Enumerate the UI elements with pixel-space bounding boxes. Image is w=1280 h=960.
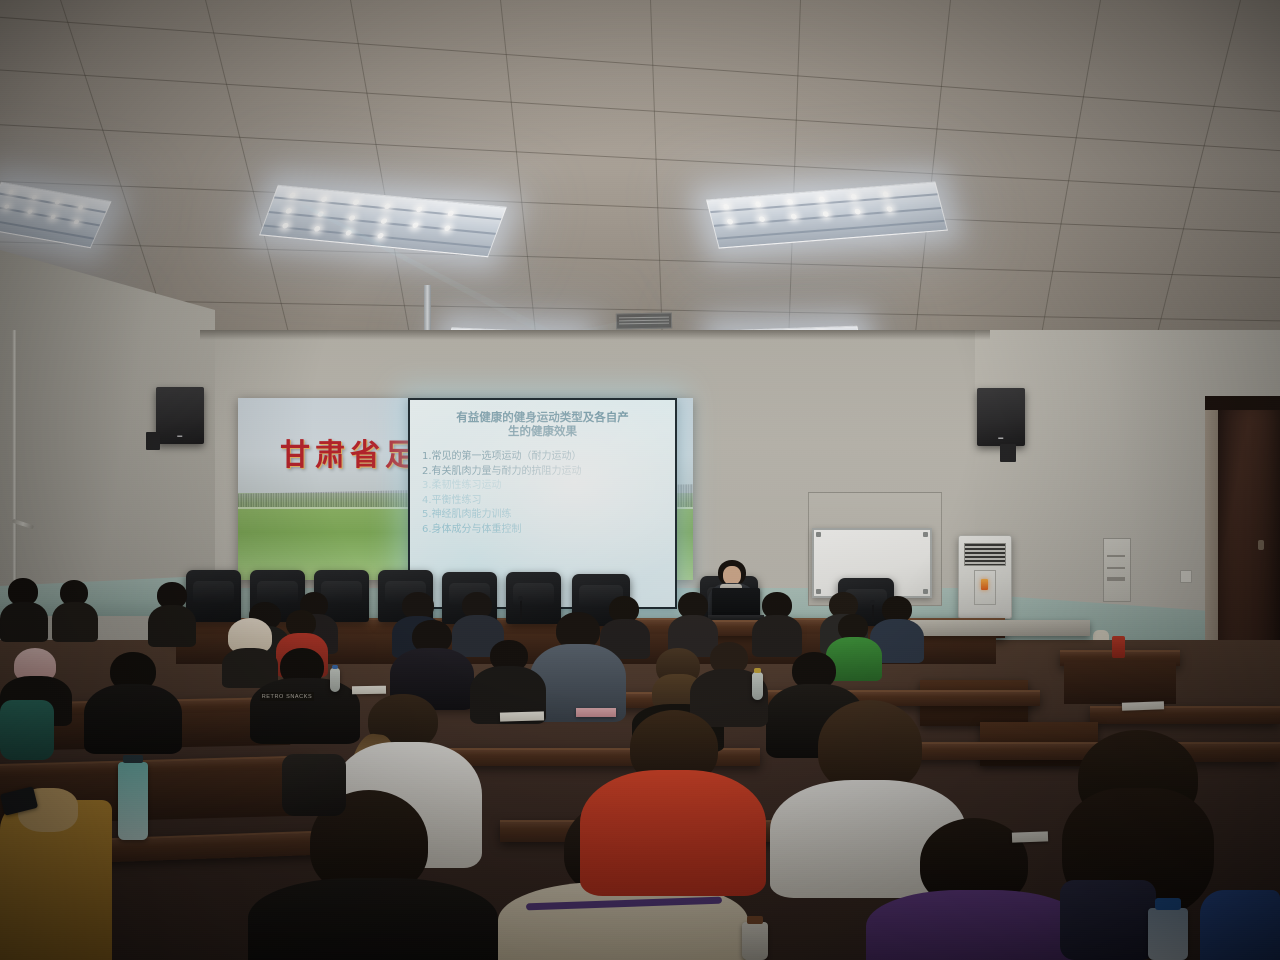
wall-notice-sign [1103, 538, 1131, 602]
audience-person-far-3 [148, 582, 196, 644]
wall-speaker-right: ▬ [977, 388, 1025, 446]
audience-person-red-hoodie [580, 710, 766, 888]
door-header-shadow [1205, 396, 1280, 410]
small-bottle-left[interactable] [330, 668, 340, 692]
side-desk-right-2 [1090, 706, 1280, 724]
light-switch[interactable] [1180, 570, 1192, 583]
door-knob[interactable] [1258, 540, 1264, 550]
speaker-brand-right: ▬ [977, 435, 1025, 441]
backpack-dark [282, 754, 346, 816]
bottle-cap-left [332, 665, 338, 669]
fire-extinguisher [1112, 636, 1125, 658]
speaker-bracket-right [1000, 444, 1016, 462]
table-microphone-1 [520, 600, 522, 622]
wall-ceiling-shadow [200, 330, 990, 340]
desk-paper-1 [352, 686, 386, 695]
speaker-brand-left: ▬ [156, 433, 204, 439]
air-conditioner[interactable] [958, 535, 1012, 619]
jacket-text-patch: RETRO SNACKS [260, 692, 314, 701]
jacket-text: RETRO SNACKS [262, 694, 313, 700]
ac-power-indicator [981, 579, 988, 590]
audience-person-front-dark-hair [248, 790, 498, 960]
desk-paper-right [1122, 701, 1164, 710]
ac-grille [964, 543, 1006, 566]
small-bottle-mid[interactable] [752, 672, 763, 700]
wall-pipe [12, 330, 17, 580]
audience-person-black-mid-1 [84, 652, 182, 750]
side-desk-right-1-apron [1064, 662, 1176, 704]
bottle-cap-blue [1155, 898, 1181, 910]
lecture-hall-photo: ▬ ▬ 甘肃省足球 主办 承办 有益健康的健身运动类型及各自产 生的健康效果 1… [0, 0, 1280, 960]
bottle-cap-front [747, 916, 764, 924]
desk-paper-4 [1012, 831, 1048, 842]
wall-speaker-left: ▬ [156, 387, 204, 444]
audience-person-far-2 [52, 580, 98, 640]
small-bottle-front[interactable] [742, 922, 768, 960]
low-counter [910, 620, 1090, 636]
backpack-right [1060, 880, 1156, 960]
teal-water-bottle[interactable] [118, 762, 148, 840]
desk-paper-3 [576, 708, 616, 717]
red-hoodie-torso [580, 770, 766, 896]
bottle-cap-teal [123, 755, 142, 763]
audience-person-far-1 [0, 578, 48, 640]
audience-person-blue-jacket [1200, 890, 1280, 960]
speaker-bracket-left [146, 432, 160, 450]
desk-paper-2 [500, 711, 544, 721]
fire-extinguisher-handle [1093, 630, 1109, 640]
backpack-teal [0, 700, 54, 760]
bottle-cap-mid [754, 668, 761, 673]
blue-water-bottle[interactable] [1148, 908, 1188, 960]
